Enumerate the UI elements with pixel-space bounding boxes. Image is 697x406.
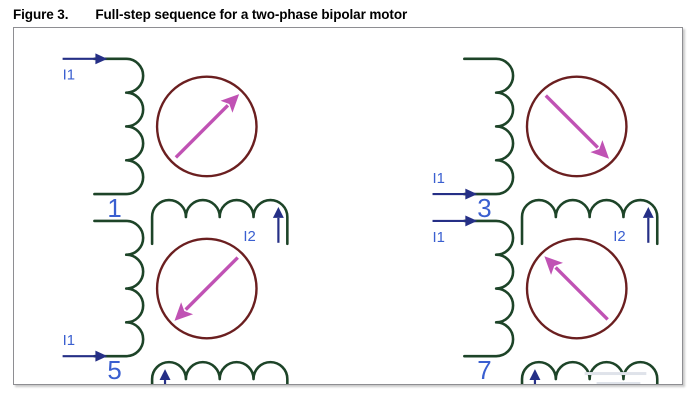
phase1-coil-step-1 — [94, 59, 143, 194]
phase1-coil-step-7 — [464, 221, 513, 356]
motor-sequence-diagram: I1 I2 1 — [14, 28, 682, 384]
rotor-arrow-step-5 — [168, 252, 243, 327]
i2-label-step-1: I2 — [243, 229, 255, 245]
rotor-step-3 — [527, 77, 626, 176]
step-cell-5: I1 I2 5 — [63, 221, 288, 384]
i1-label-step-5: I1 — [63, 333, 75, 349]
step-number-3: 3 — [477, 195, 491, 223]
phase1-coil-step-3 — [464, 59, 513, 194]
i2-label-step-3: I2 — [613, 229, 625, 245]
scan-artifact — [585, 372, 647, 384]
phase1-coil-step-5 — [94, 221, 143, 356]
i2-arrow-step-7 — [529, 369, 540, 384]
figure-title: Full-step sequence for a two-phase bipol… — [95, 7, 407, 22]
step-cell-1: I1 I2 1 — [63, 53, 288, 244]
rotor-step-1 — [157, 77, 256, 176]
phase2-coil-step-1 — [152, 200, 287, 244]
rotor-step-7 — [527, 239, 626, 338]
i1-arrow-step-5 — [63, 351, 108, 362]
rotor-arrow-step-1 — [170, 88, 245, 163]
i2-arrow-step-1 — [273, 207, 284, 243]
i1-arrow-step-1 — [63, 53, 108, 64]
step-number-1: 1 — [107, 195, 121, 223]
i2-arrow-step-5 — [160, 369, 171, 384]
step-number-7: 7 — [477, 357, 491, 384]
i1-arrow-step-3 — [433, 189, 478, 200]
i1-label-step-3: I1 — [433, 171, 445, 187]
rotor-step-5 — [157, 239, 256, 338]
i1-label-step-1: I1 — [63, 68, 75, 84]
figure-number: Figure 3. — [13, 7, 68, 22]
figure-frame: I1 I2 1 — [13, 27, 683, 385]
i1-label-step-7: I1 — [433, 230, 445, 246]
phase2-coil-step-3 — [522, 200, 657, 244]
rotor-arrow-step-3 — [540, 90, 615, 165]
step-number-5: 5 — [107, 357, 121, 384]
figure-caption: Figure 3. Full-step sequence for a two-p… — [13, 4, 683, 24]
i2-arrow-step-3 — [643, 207, 654, 243]
i1-arrow-step-7 — [433, 215, 478, 226]
phase2-coil-step-5 — [152, 362, 287, 384]
rotor-arrow-step-7 — [538, 250, 613, 325]
